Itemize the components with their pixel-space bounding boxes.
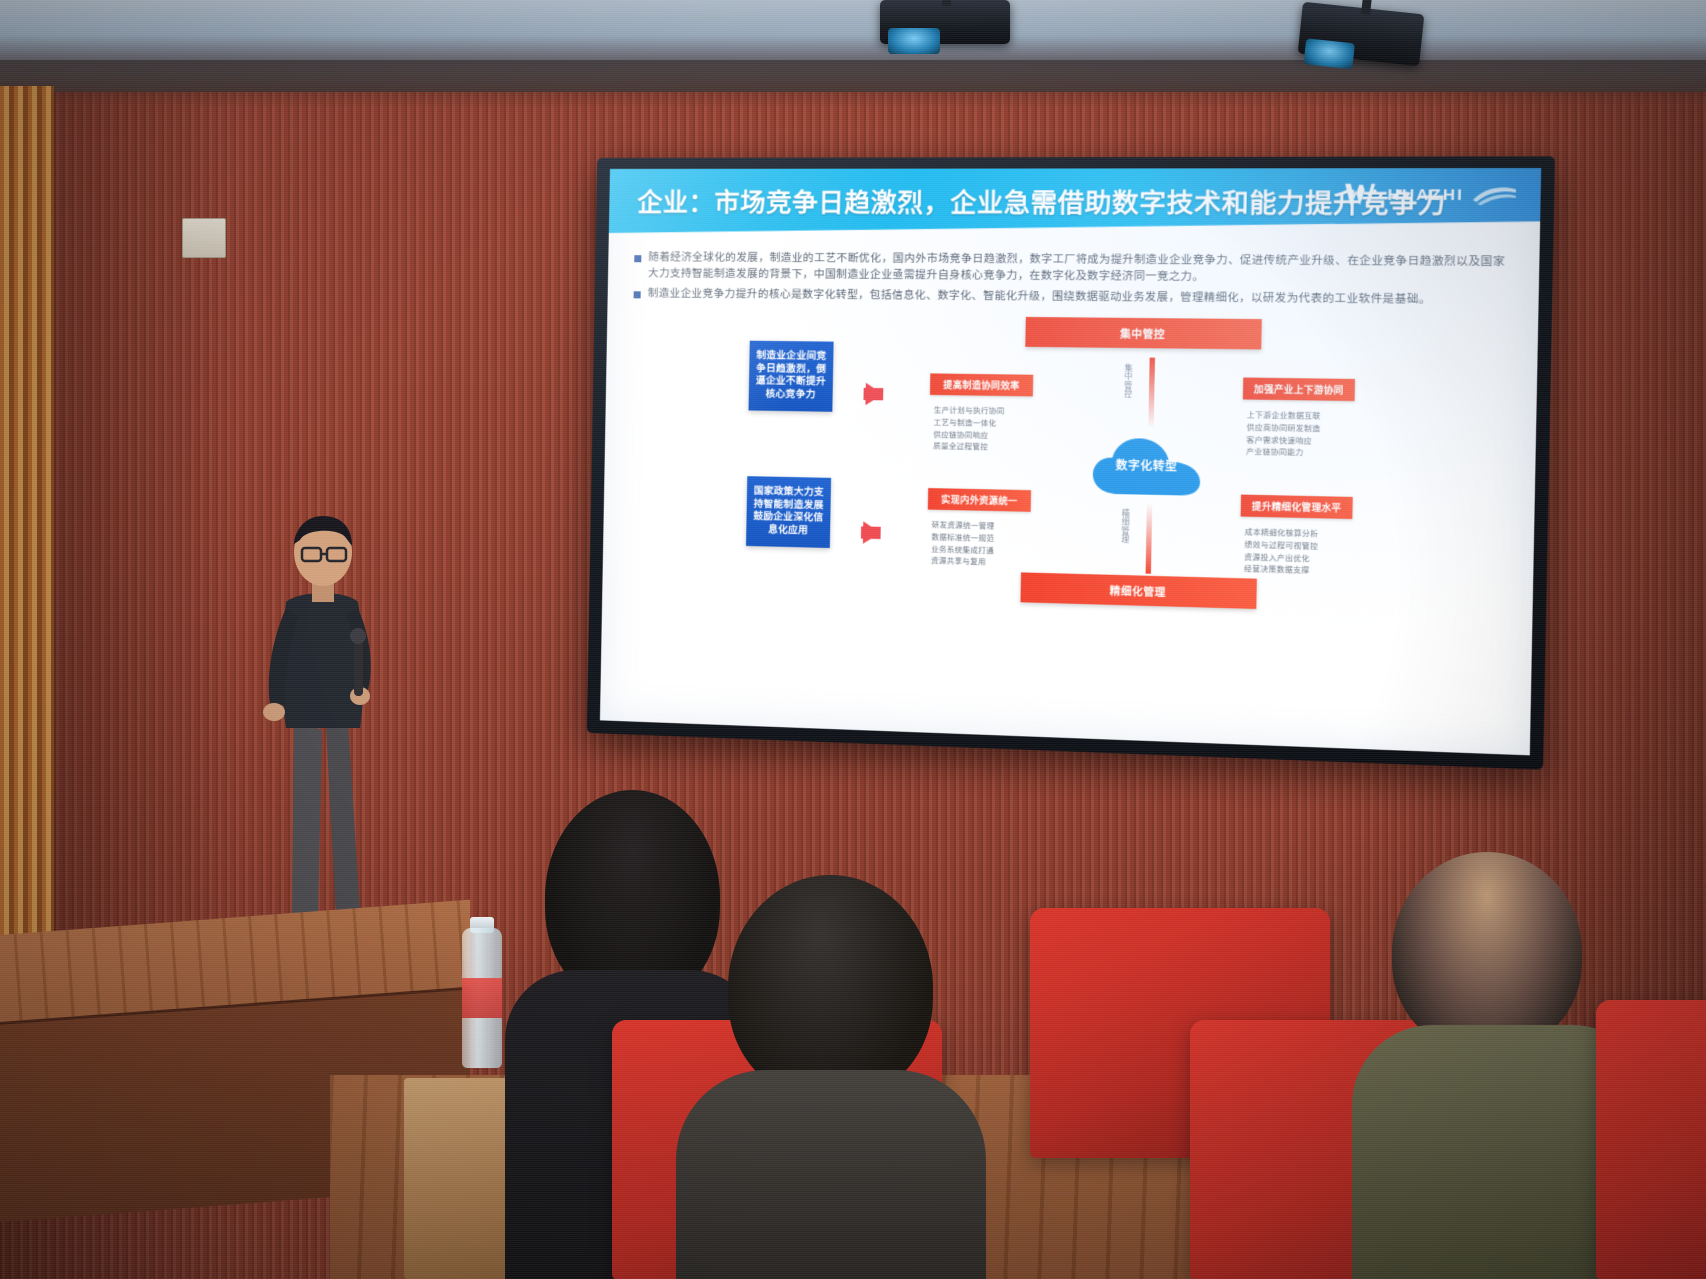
bullet-text: 随着经济全球化的发展，制造业的工艺不断优化，国内外市场竞争日趋激烈，数字工厂将成… (648, 249, 1510, 288)
bullet-square-icon (634, 255, 641, 262)
slide-title-bar: 企业：市场竞争日趋激烈，企业急需借助数字技术和能力提升竞争力 HUAZHI (609, 168, 1541, 236)
audience-area (0, 820, 1706, 1279)
banner-bottom: 精细化管理 (1020, 572, 1256, 609)
flow-caption-up: 集中管控 (1122, 363, 1134, 398)
spoke-label-right-bottom: 提升精细化管理水平 (1241, 494, 1353, 518)
spoke-item: 产业链协同能力 (1246, 446, 1365, 461)
huazhi-w-mark-icon (1343, 181, 1381, 208)
bullet-text: 制造业企业竞争力提升的核心是数字化转型，包括信息化、数字化、智能化升级，围绕数据… (648, 285, 1432, 308)
spoke-label-left-top: 提高制造协同效率 (930, 373, 1033, 396)
flow-arrow-down (1146, 503, 1153, 574)
flow-arrow-up (1148, 357, 1155, 428)
stage-light-left (880, 0, 1010, 44)
spoke-items-left-top: 生产计划与执行协同工艺与制造一体化供应链协同响应质量全过程管控 (933, 404, 1041, 455)
projection-screen-frame: 企业：市场竞争日趋激烈，企业急需借助数字技术和能力提升竞争力 HUAZHI 随着… (587, 156, 1555, 769)
audience-head-2 (728, 875, 933, 1100)
swoosh-icon (1471, 183, 1519, 206)
seat-4 (1596, 1000, 1706, 1279)
ceiling-shadow-band (0, 60, 1706, 106)
spoke-item: 工艺与制造一体化 (934, 416, 1041, 430)
flow-caption-down: 精细管理 (1119, 508, 1131, 544)
spoke-items-left-bottom: 研发资源统一管理数据标准统一规范业务系统集成打通资源共享与复用 (931, 519, 1039, 570)
driver-box-competition: 制造业企业间竞争日趋激烈，倒逼企业不断提升核心竞争力 (749, 341, 834, 412)
bullet-square-icon (634, 291, 641, 298)
spoke-label-left-bottom: 实现内外资源统一 (928, 488, 1031, 512)
wall-speaker-box (182, 218, 226, 258)
right-arrow-icon (863, 521, 881, 544)
right-arrow-icon (865, 383, 883, 406)
driver-box-policy: 国家政策大力支持智能制造发展鼓励企业深化信息化应用 (746, 476, 831, 548)
bullet-item: 制造业企业竞争力提升的核心是数字化转型，包括信息化、数字化、智能化升级，围绕数据… (634, 285, 1510, 309)
banner-top: 集中管控 (1025, 317, 1262, 350)
spoke-item: 经营决策数据支撑 (1244, 563, 1363, 579)
logo-text: HUAZHI (1388, 186, 1465, 204)
spoke-item: 质量全过程管控 (933, 440, 1040, 454)
slide-diagram: 制造业企业间竞争日趋激烈，倒逼企业不断提升核心竞争力 国家政策大力支持智能制造发… (601, 315, 1538, 675)
slide-title: 企业：市场竞争日趋激烈，企业急需借助数字技术和能力提升竞争力 (609, 183, 1446, 221)
cloud-label: 数字化转型 (1089, 456, 1205, 475)
audience-body-2 (676, 1070, 986, 1279)
projection-screen: 企业：市场竞争日趋激烈，企业急需借助数字技术和能力提升竞争力 HUAZHI 随着… (600, 168, 1541, 755)
slide-bullets: 随着经济全球化的发展，制造业的工艺不断优化，国内外市场竞争日趋激烈，数字工厂将成… (608, 233, 1540, 309)
bullet-item: 随着经济全球化的发展，制造业的工艺不断优化，国内外市场竞争日趋激烈，数字工厂将成… (634, 249, 1510, 288)
spoke-item: 资源共享与复用 (931, 555, 1038, 570)
audience-head-3 (1392, 852, 1582, 1052)
spoke-label-right-top: 加强产业上下游协同 (1243, 377, 1355, 401)
spoke-items-right-bottom: 成本精细化核算分析绩效与过程可视管控资源投入产出优化经营决策数据支撑 (1244, 526, 1363, 579)
spoke-items-right-top: 上下游企业数据互联供应商协同研发制造客户需求快速响应产业链协同能力 (1246, 409, 1365, 461)
company-logo: HUAZHI (1343, 181, 1518, 209)
